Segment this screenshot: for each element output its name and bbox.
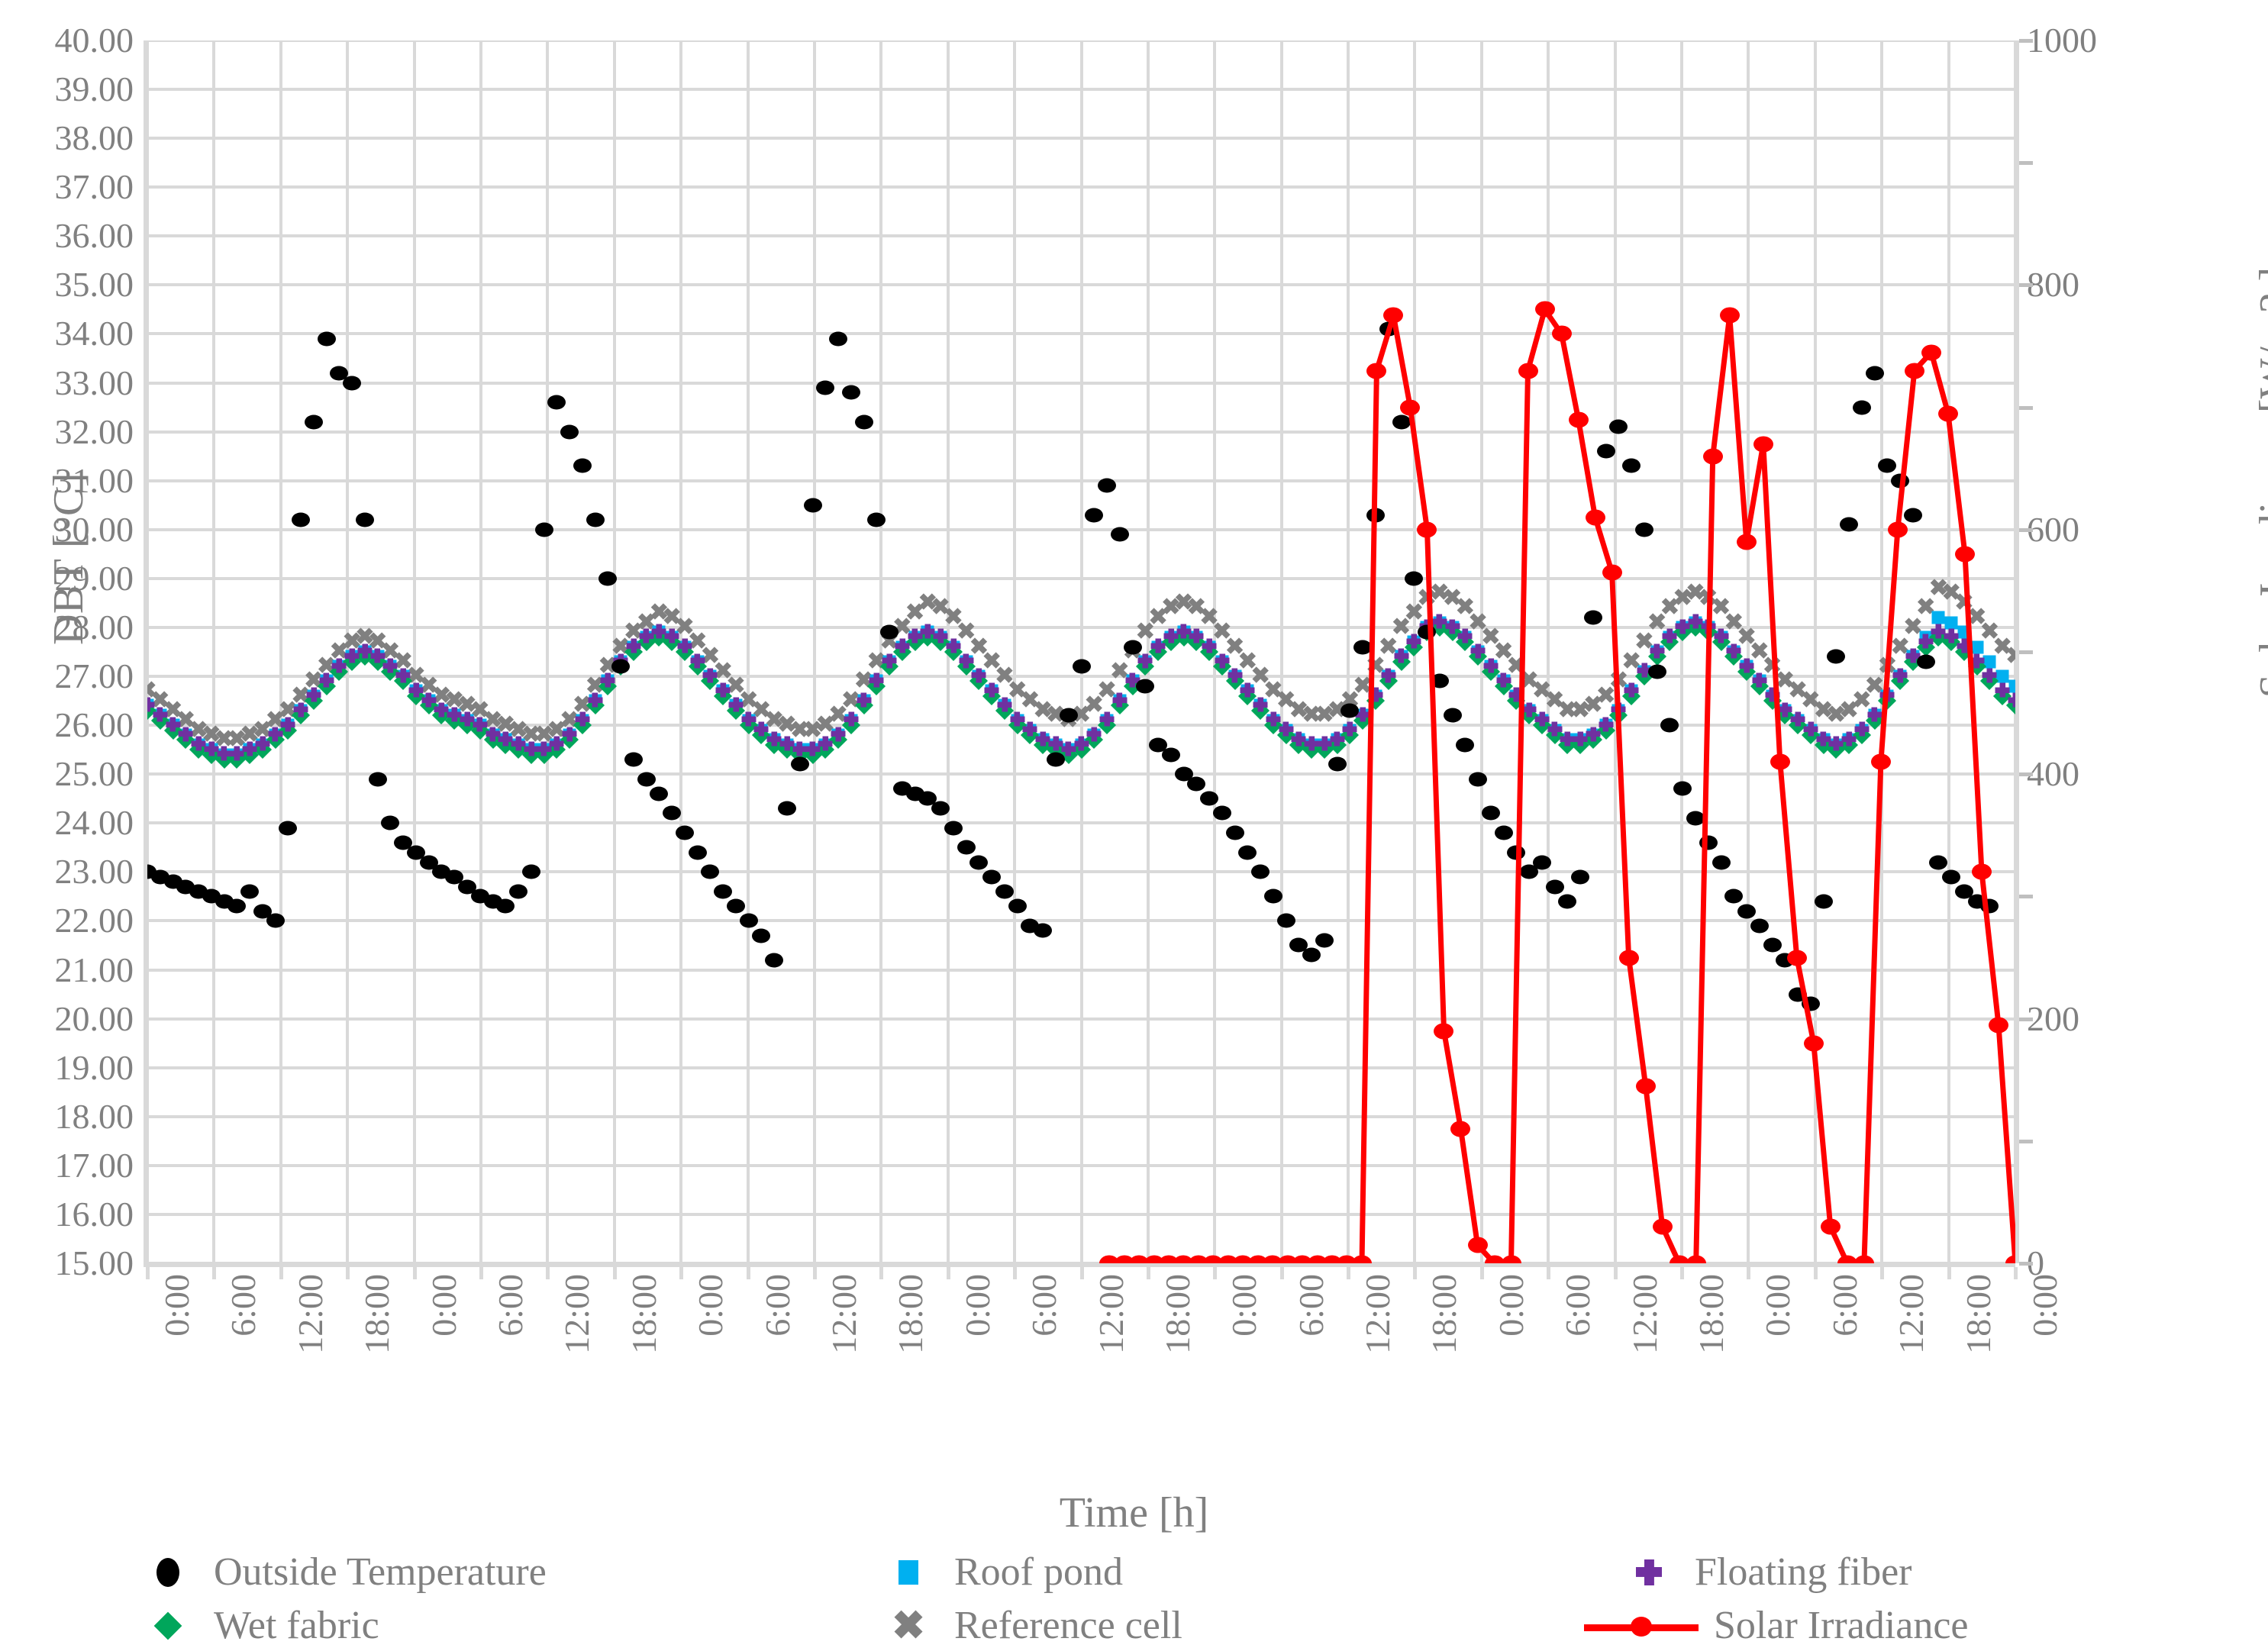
circle-marker-icon — [122, 1558, 214, 1587]
x-tick-label: 0:00 — [424, 1274, 464, 1337]
y-tick-label-left: 28.00 — [4, 610, 134, 645]
legend-item[interactable]: Wet fabric — [122, 1603, 379, 1648]
y-tick-label-right: 400 — [2027, 756, 2164, 792]
x-axis-ticks: 0:006:0012:0018:000:006:0012:0018:000:00… — [0, 1269, 2268, 1483]
x-tick-label: 12:00 — [1357, 1274, 1398, 1354]
data-point-solar — [1400, 399, 1420, 415]
legend-item[interactable]: Roof pond — [863, 1550, 1123, 1595]
data-point-solar — [1989, 1017, 2008, 1033]
x-tick-label: 0:00 — [957, 1274, 998, 1337]
y-tick-right — [2019, 772, 2033, 776]
data-point-solar — [1787, 950, 1807, 966]
x-tick-label: 0:00 — [156, 1274, 197, 1337]
y-tick-label-left: 24.00 — [4, 805, 134, 840]
y-tick-right — [2019, 283, 2033, 287]
y-tick-label-left: 40.00 — [4, 23, 134, 58]
y-tick-label-left: 16.00 — [4, 1197, 134, 1232]
x-tick-label: 0:00 — [2024, 1274, 2065, 1337]
legend-item[interactable]: Solar Irradiance — [1569, 1603, 1968, 1648]
y-tick-label-left: 30.00 — [4, 512, 134, 547]
data-point-solar — [1535, 302, 1555, 318]
legend-label: Reference cell — [954, 1603, 1182, 1648]
data-point-solar — [1888, 521, 1908, 537]
plot-canvas: ✖✖✖✖✖✖✖✖✖✖✖✖✖✖✖✖✖✖✖✖✖✖✖✖✖✖✖✖✖✖✖✖✖✖✖✖✖✖✖✖… — [147, 40, 2015, 1263]
data-point-solar — [1569, 411, 1589, 427]
y-tick-right — [2019, 39, 2033, 43]
data-point-solar — [1938, 405, 1958, 421]
y-tick-label-right: 600 — [2027, 512, 2164, 547]
x-tick-label: 12:00 — [1091, 1274, 1131, 1354]
plot-area: ✖✖✖✖✖✖✖✖✖✖✖✖✖✖✖✖✖✖✖✖✖✖✖✖✖✖✖✖✖✖✖✖✖✖✖✖✖✖✖✖… — [144, 40, 2015, 1267]
data-point-solar — [1619, 950, 1639, 966]
x-tick-label: 12:00 — [824, 1274, 864, 1354]
y-tick-label-left: 36.00 — [4, 218, 134, 253]
y-tick-label-left: 38.00 — [4, 121, 134, 156]
y-tick-label-left: 35.00 — [4, 267, 134, 302]
x-tick-label: 6:00 — [1824, 1274, 1865, 1337]
data-point-solar — [1602, 564, 1622, 580]
data-point-solar — [1905, 363, 1924, 379]
x-tick-label: 18:00 — [1424, 1274, 1464, 1354]
x-tick-label: 18:00 — [1157, 1274, 1198, 1354]
y-tick-right — [2019, 895, 2033, 898]
x-tick-label: 18:00 — [1691, 1274, 1731, 1354]
data-point-solar — [1552, 326, 1572, 342]
x-tick-label: 12:00 — [557, 1274, 597, 1354]
data-point-solar — [1720, 308, 1740, 324]
y-tick-right — [2019, 650, 2033, 654]
y-tick-label-left: 33.00 — [4, 366, 134, 401]
plus-marker-icon — [1603, 1559, 1695, 1585]
y-tick-label-left: 20.00 — [4, 1001, 134, 1037]
x-tick-label: 6:00 — [1024, 1274, 1064, 1337]
square-marker-icon — [863, 1560, 954, 1585]
x-tick-label: 0:00 — [690, 1274, 731, 1337]
x-tick-label: 18:00 — [356, 1274, 397, 1354]
data-point-solar — [1955, 546, 1975, 562]
y-tick-label-right: 1000 — [2027, 23, 2164, 58]
x-tick-label: 18:00 — [1958, 1274, 1999, 1354]
x-tick-label: 18:00 — [890, 1274, 931, 1354]
data-point-solar — [1468, 1237, 1488, 1253]
data-point-solar — [1737, 534, 1757, 550]
data-point-solar — [1518, 363, 1538, 379]
data-point-solar — [1871, 754, 1891, 770]
data-point-solar — [1417, 521, 1437, 537]
y-tick-label-left: 39.00 — [4, 72, 134, 107]
y-tick-label-left: 31.00 — [4, 463, 134, 498]
x-tick-label: 6:00 — [1557, 1274, 1598, 1337]
x-tick-label: 0:00 — [1224, 1274, 1264, 1337]
diamond-marker-icon — [122, 1616, 214, 1636]
x-tick-label: 12:00 — [1624, 1274, 1665, 1354]
y-tick-label-left: 23.00 — [4, 854, 134, 889]
data-point-solar — [1972, 864, 1992, 880]
y-tick-label-left: 34.00 — [4, 316, 134, 351]
data-point-solar — [1366, 363, 1386, 379]
chart-legend: Outside TemperatureWet fabricRoof pond✖R… — [0, 1543, 2268, 1648]
y-tick-label-left: 19.00 — [4, 1050, 134, 1085]
y-tick-label-left: 29.00 — [4, 561, 134, 596]
y-tick-label-left: 26.00 — [4, 708, 134, 743]
y-tick-right — [2019, 161, 2033, 165]
y-tick-label-right: 800 — [2027, 267, 2164, 302]
legend-label: Wet fabric — [214, 1603, 379, 1648]
legend-label: Solar Irradiance — [1714, 1603, 1968, 1648]
x-tick-label: 6:00 — [757, 1274, 798, 1337]
data-point-solar — [1653, 1218, 1673, 1234]
x-tick-label: 12:00 — [1891, 1274, 1931, 1354]
legend-item[interactable]: Outside Temperature — [122, 1550, 547, 1595]
y-tick-right — [2019, 1140, 2033, 1143]
solar-irradiance-line — [147, 40, 2015, 1263]
data-point-solar — [1383, 308, 1403, 324]
legend-label: Outside Temperature — [214, 1550, 547, 1595]
y-tick-label-left: 17.00 — [4, 1148, 134, 1183]
y-tick-right — [2019, 528, 2033, 532]
data-point-solar — [1921, 344, 1941, 360]
data-point-solar — [1636, 1078, 1656, 1094]
y-tick-right — [2019, 1262, 2033, 1266]
legend-item[interactable]: Floating fiber — [1603, 1550, 1912, 1595]
data-point-solar — [1821, 1218, 1841, 1234]
y-tick-label-left: 22.00 — [4, 903, 134, 938]
y-tick-label-left: 27.00 — [4, 659, 134, 694]
legend-item[interactable]: ✖Reference cell — [863, 1603, 1182, 1648]
line-marker-icon — [1569, 1611, 1714, 1641]
x-tick-label: 6:00 — [490, 1274, 531, 1337]
data-point-solar — [1753, 436, 1773, 452]
data-point-solar — [1804, 1035, 1824, 1051]
data-point-solar — [1703, 448, 1723, 464]
x-tick-label: 0:00 — [1491, 1274, 1531, 1337]
legend-label: Roof pond — [954, 1550, 1123, 1595]
data-point-solar — [1434, 1023, 1453, 1039]
y-tick-label-left: 25.00 — [4, 756, 134, 792]
y-axis-right-title: Solar Irradiance [W/m2 ] — [2250, 192, 2268, 772]
data-point-solar — [1770, 754, 1790, 770]
y-tick-label-left: 32.00 — [4, 414, 134, 450]
y-tick-right — [2019, 1018, 2033, 1021]
y-tick-label-left: 21.00 — [4, 953, 134, 988]
y-tick-label-left: 18.00 — [4, 1099, 134, 1134]
legend-label: Floating fiber — [1695, 1550, 1912, 1595]
data-point-solar — [1450, 1121, 1470, 1137]
x-tick-label: 6:00 — [1291, 1274, 1331, 1337]
x-tick-label: 0:00 — [1757, 1274, 1798, 1337]
x-tick-label: 12:00 — [290, 1274, 331, 1354]
y-tick-label-left: 37.00 — [4, 169, 134, 205]
x-axis-title: Time [h] — [0, 1488, 2268, 1537]
y-tick-right — [2019, 406, 2033, 410]
data-point-solar — [1586, 509, 1605, 525]
x-marker-icon: ✖ — [863, 1611, 954, 1641]
y-tick-label-right: 200 — [2027, 1001, 2164, 1037]
x-tick-label: 6:00 — [223, 1274, 263, 1337]
x-tick-label: 18:00 — [624, 1274, 664, 1354]
